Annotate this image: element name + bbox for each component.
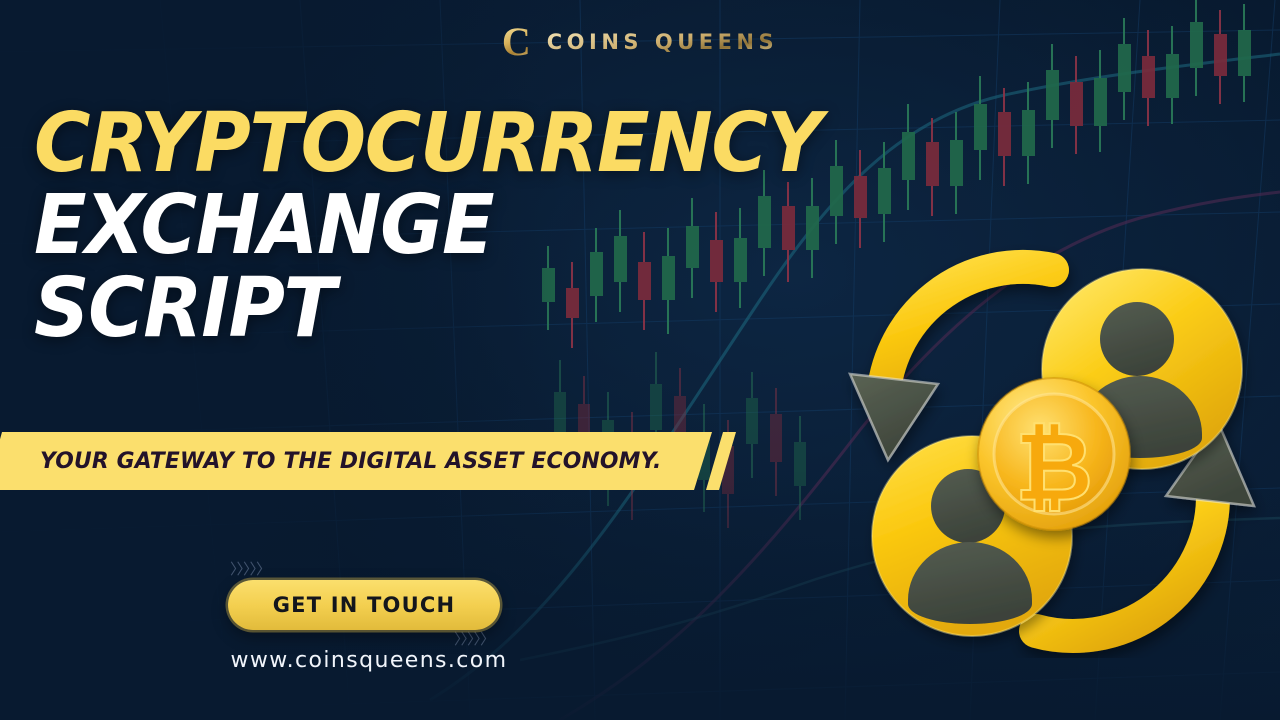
brand-logo[interactable]: C COINS QUEENS	[0, 22, 1280, 62]
chevron-decoration-top-icon: 〉〉〉〉〉	[230, 562, 270, 577]
logo-wordmark: COINS QUEENS	[547, 30, 778, 54]
headline-line-2: EXCHANGE	[34, 188, 1030, 264]
headline-line-1: CRYPTOCURRENCY	[34, 106, 1030, 182]
get-in-touch-button[interactable]: GET IN TOUCH	[228, 580, 500, 630]
subtitle-banner: YOUR GATEWAY TO THE DIGITAL ASSET ECONOM…	[0, 432, 740, 490]
bitcoin-coin-icon: ₿	[978, 378, 1130, 530]
cta-block: 〉〉〉〉〉 〉〉〉〉〉 GET IN TOUCH www.coinsqueens…	[214, 562, 524, 662]
page-title: CRYPTOCURRENCY EXCHANGE SCRIPT	[34, 106, 1094, 347]
avatar-head-icon	[1100, 302, 1174, 376]
subtitle-accent-sliver	[706, 432, 736, 490]
bitcoin-symbol-icon: ₿	[1015, 411, 1093, 523]
promo-banner: C COINS QUEENS CRYPTOCURRENCY EXCHANGE S…	[0, 0, 1280, 720]
website-url[interactable]: www.coinsqueens.com	[214, 648, 524, 673]
subtitle-bar-shape: YOUR GATEWAY TO THE DIGITAL ASSET ECONOM…	[0, 432, 712, 490]
logo-monogram-icon: C	[502, 22, 531, 62]
chevron-decoration-bottom-icon: 〉〉〉〉〉	[454, 632, 494, 647]
headline-line-3: SCRIPT	[34, 271, 1030, 347]
subtitle-text: YOUR GATEWAY TO THE DIGITAL ASSET ECONOM…	[40, 448, 661, 474]
